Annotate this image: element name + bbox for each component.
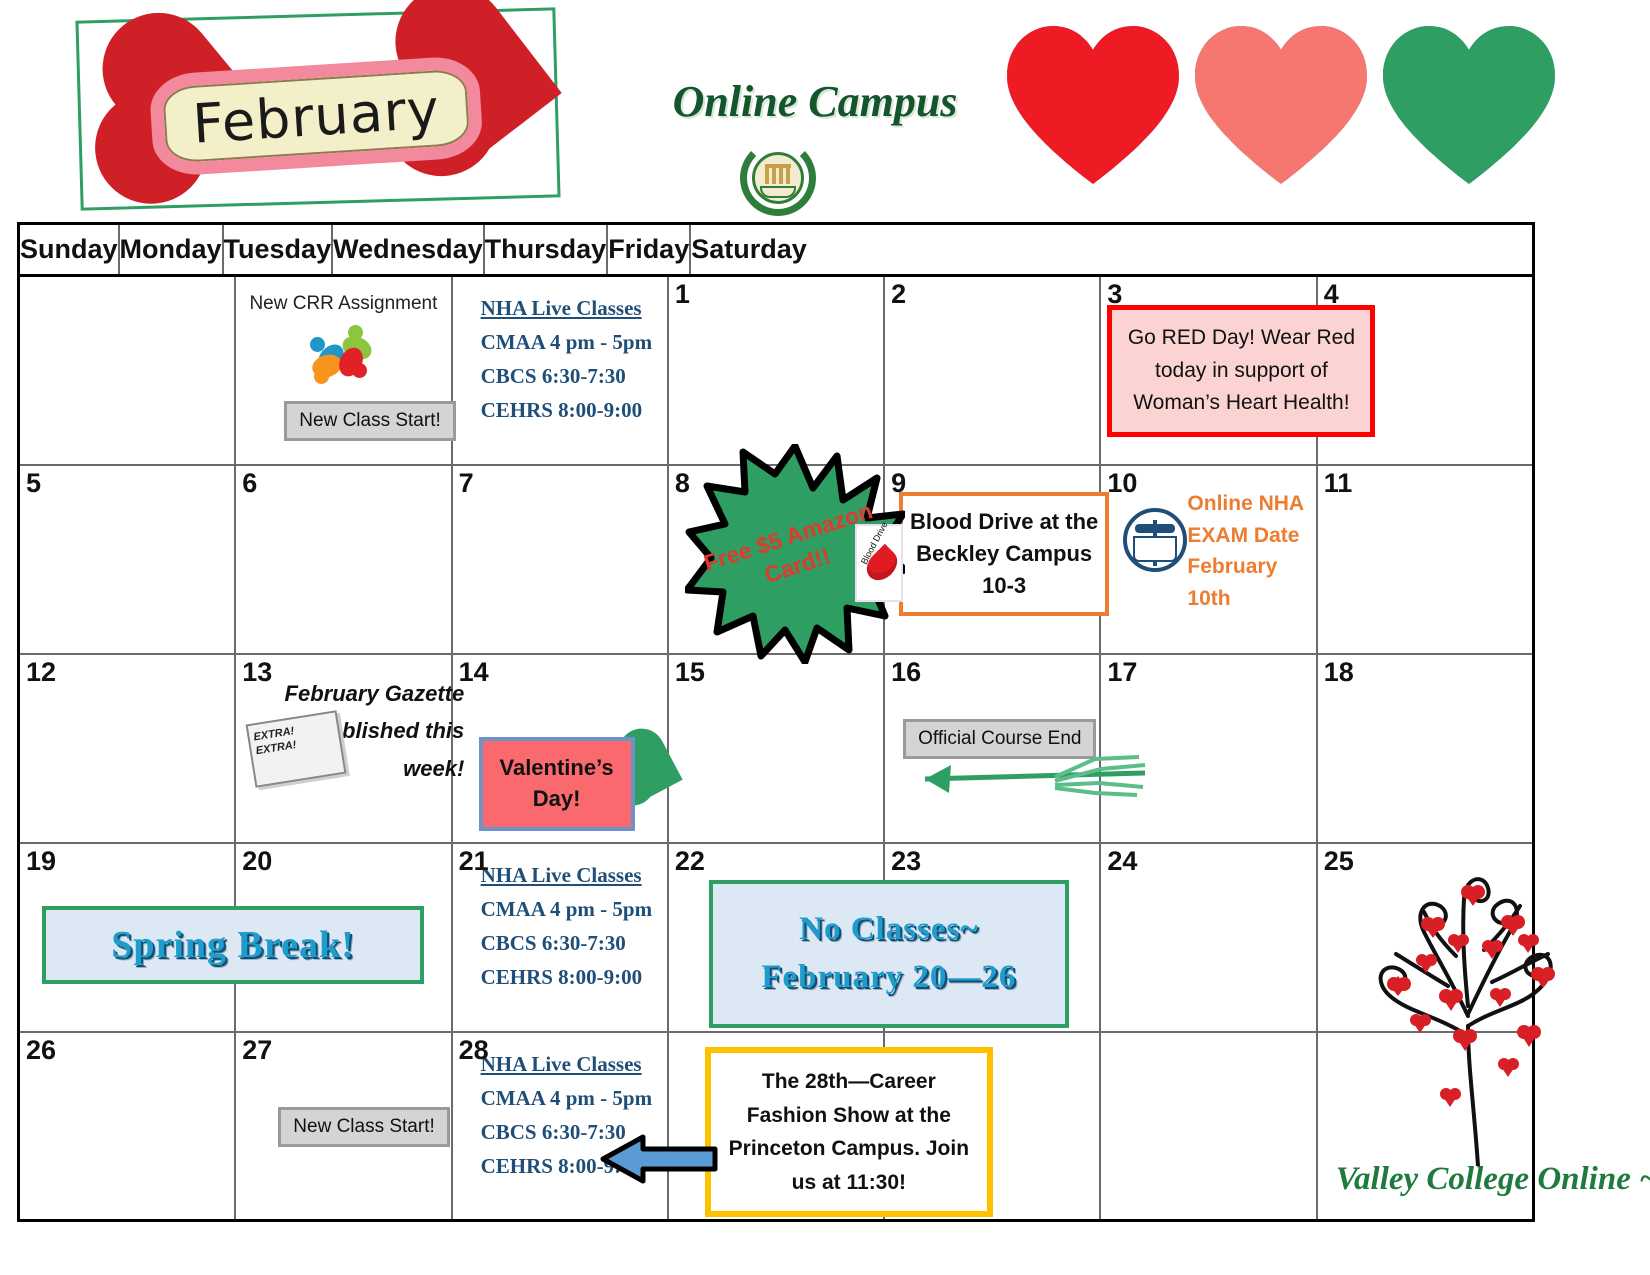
week-row-1: New CRR Assignment New Class Start! NHA … [20,277,1532,466]
nha-line-cmaa: CMAA 4 pm - 5pm [481,1081,678,1115]
day-number: 25 [1324,846,1354,877]
nha-line-cbcs: CBCS 6:30-7:30 [481,926,678,960]
nha-line-cbcs: CBCS 6:30-7:30 [481,359,678,393]
day-number: 1 [675,279,690,310]
cell-day-11[interactable]: 11 [1318,466,1532,653]
page-title: Online Campus [600,76,1030,127]
cell-day-22[interactable]: 22 No Classes~ February 20—26 [669,844,885,1031]
day-number: 27 [242,1035,272,1066]
day-number: 13 [242,657,272,688]
medical-caduceus-icon [1123,508,1187,572]
footer-tagline: Valley College Online ~ Here for You! [1336,1161,1650,1198]
new-class-start-badge[interactable]: New Class Start! [284,401,455,441]
cell-day-9[interactable]: 9 Blood Drive Blood Drive at the Beckley… [885,466,1101,653]
day-number: 10 [1107,468,1137,499]
day-number: 21 [459,846,489,877]
week-row-5: 26 27 New Class Start! 28 NHA Live Class… [20,1033,1532,1219]
cell-nha-tue-1[interactable]: NHA Live Classes CMAA 4 pm - 5pm CBCS 6:… [453,277,669,464]
nha-line-cmaa: CMAA 4 pm - 5pm [481,892,678,926]
weekday-thursday: Thursday [485,225,609,274]
day-number: 6 [242,468,257,499]
nha-title: NHA Live Classes [481,291,678,325]
cell-day-2[interactable]: 2 [885,277,1101,464]
cell-crr[interactable]: New CRR Assignment New Class Start! [236,277,452,464]
cell-blank-3[interactable] [1101,1033,1317,1219]
cell-day-8[interactable]: 8 Free $5 Amazon Card!! [669,466,885,653]
blood-drop-icon: Blood Drive [855,524,903,602]
no-classes-line-2: February 20—26 [761,954,1016,1002]
cell-day-13[interactable]: 13 February Gazette Published this week!… [236,655,452,842]
swirl-heart-green-icon [1381,22,1557,190]
college-seal-icon [740,140,816,216]
day-number: 2 [891,279,906,310]
swirl-heart-red-icon [1005,22,1181,190]
cell-day-15[interactable]: 15 [669,655,885,842]
crr-label: New CRR Assignment [236,293,450,315]
blood-drive-callout[interactable]: Blood Drive at the Beckley Campus 10-3 [899,492,1109,616]
day-number: 4 [1324,279,1339,310]
calendar-page: February Online Campus Sunday Monday [0,0,1650,1275]
day-number: 5 [26,468,41,499]
nha-line-cmaa: CMAA 4 pm - 5pm [481,325,678,359]
day-number: 18 [1324,657,1354,688]
calendar-grid: Sunday Monday Tuesday Wednesday Thursday… [17,222,1535,1222]
career-fashion-show-callout[interactable]: The 28th—Career Fashion Show at the Prin… [705,1047,993,1217]
nha-line-cehrs: CEHRS 8:00-9:00 [481,960,678,994]
blue-left-arrow-icon [599,1133,719,1185]
day-number: 28 [459,1035,489,1066]
no-classes-line-1: No Classes~ [799,906,978,954]
cell-day-6[interactable]: 6 [236,466,452,653]
cell-day-14[interactable]: 14 Valentine’s Day! [453,655,669,842]
cell-day-27[interactable]: 27 New Class Start! [236,1033,452,1219]
day-number: 7 [459,468,474,499]
cell-day-7[interactable]: 7 [453,466,669,653]
month-label: February [162,69,470,164]
day-number: 11 [1324,468,1353,499]
valentines-day-callout[interactable]: Valentine’s Day! [479,737,635,831]
week-row-2: 5 6 7 8 Free $5 Amazon Card!! 9 [20,466,1532,655]
month-scroll: February [148,55,484,178]
cell-day-16[interactable]: 16 Official Course End [885,655,1101,842]
february-banner-graphic: February [75,7,560,210]
heart-tree-icon [1328,836,1608,1166]
nha-line-cehrs: CEHRS 8:00-9:00 [481,393,678,427]
people-group-icon [306,321,380,387]
day-number: 24 [1107,846,1137,877]
cell-fashion-show[interactable]: The 28th—Career Fashion Show at the Prin… [669,1033,885,1219]
day-number: 23 [891,846,921,877]
week-row-3: 12 13 February Gazette Published this we… [20,655,1532,844]
page-header: February Online Campus [0,0,1650,222]
day-number: 19 [26,846,56,877]
nha-live-classes-block: NHA Live Classes CMAA 4 pm - 5pm CBCS 6:… [481,858,678,994]
nha-live-classes-block: NHA Live Classes CMAA 4 pm - 5pm CBCS 6:… [481,291,678,427]
day-number: 3 [1107,279,1122,310]
cell-day-20[interactable]: 20 [236,844,452,1031]
cell-day-18[interactable]: 18 [1318,655,1532,842]
day-number: 12 [26,657,56,688]
cell-day-24[interactable]: 24 [1101,844,1317,1031]
cell-day-26[interactable]: 26 [20,1033,236,1219]
no-classes-callout[interactable]: No Classes~ February 20—26 [709,880,1069,1028]
day-number: 17 [1107,657,1137,688]
official-course-end-badge[interactable]: Official Course End [903,719,1096,759]
cell-day-4[interactable]: 4 [1318,277,1532,464]
weekday-sunday: Sunday [20,225,120,274]
cell-day-21[interactable]: 21 NHA Live Classes CMAA 4 pm - 5pm CBCS… [453,844,669,1031]
day-number: 14 [459,657,489,688]
cell-day-5[interactable]: 5 [20,466,236,653]
cell-day-25[interactable]: 25 [1318,844,1532,1031]
swirl-heart-pink-icon [1193,22,1369,190]
cell-day-1[interactable]: 1 [669,277,885,464]
weekday-wednesday: Wednesday [333,225,485,274]
nha-title: NHA Live Classes [481,1047,678,1081]
nha-exam-text: Online NHA EXAM Date February 10th [1187,488,1307,614]
cell-day-17[interactable]: 17 [1101,655,1317,842]
cell-day-3[interactable]: 3 Go RED Day! Wear Red today in support … [1101,277,1317,464]
cupid-arrow-icon [895,755,1165,797]
nha-title: NHA Live Classes [481,858,678,892]
week-row-4: 19 Spring Break! 20 21 NHA Live Classes … [20,844,1532,1033]
day-number: 20 [242,846,272,877]
cell-day-19[interactable]: 19 Spring Break! [20,844,236,1031]
cell-blank-1[interactable] [20,277,236,464]
cell-day-12[interactable]: 12 [20,655,236,842]
day-number: 22 [675,846,705,877]
weekday-friday: Friday [608,225,691,274]
weekday-tuesday: Tuesday [224,225,334,274]
weekday-header-row: Sunday Monday Tuesday Wednesday Thursday… [20,225,1532,277]
new-class-start-badge[interactable]: New Class Start! [278,1107,449,1147]
weekday-saturday: Saturday [691,225,807,274]
cell-day-28[interactable]: 28 NHA Live Classes CMAA 4 pm - 5pm CBCS… [453,1033,669,1219]
cell-day-10[interactable]: 10 Online NHA EXAM Date February 10th [1101,466,1317,653]
weekday-monday: Monday [120,225,224,274]
day-number: 26 [26,1035,56,1066]
